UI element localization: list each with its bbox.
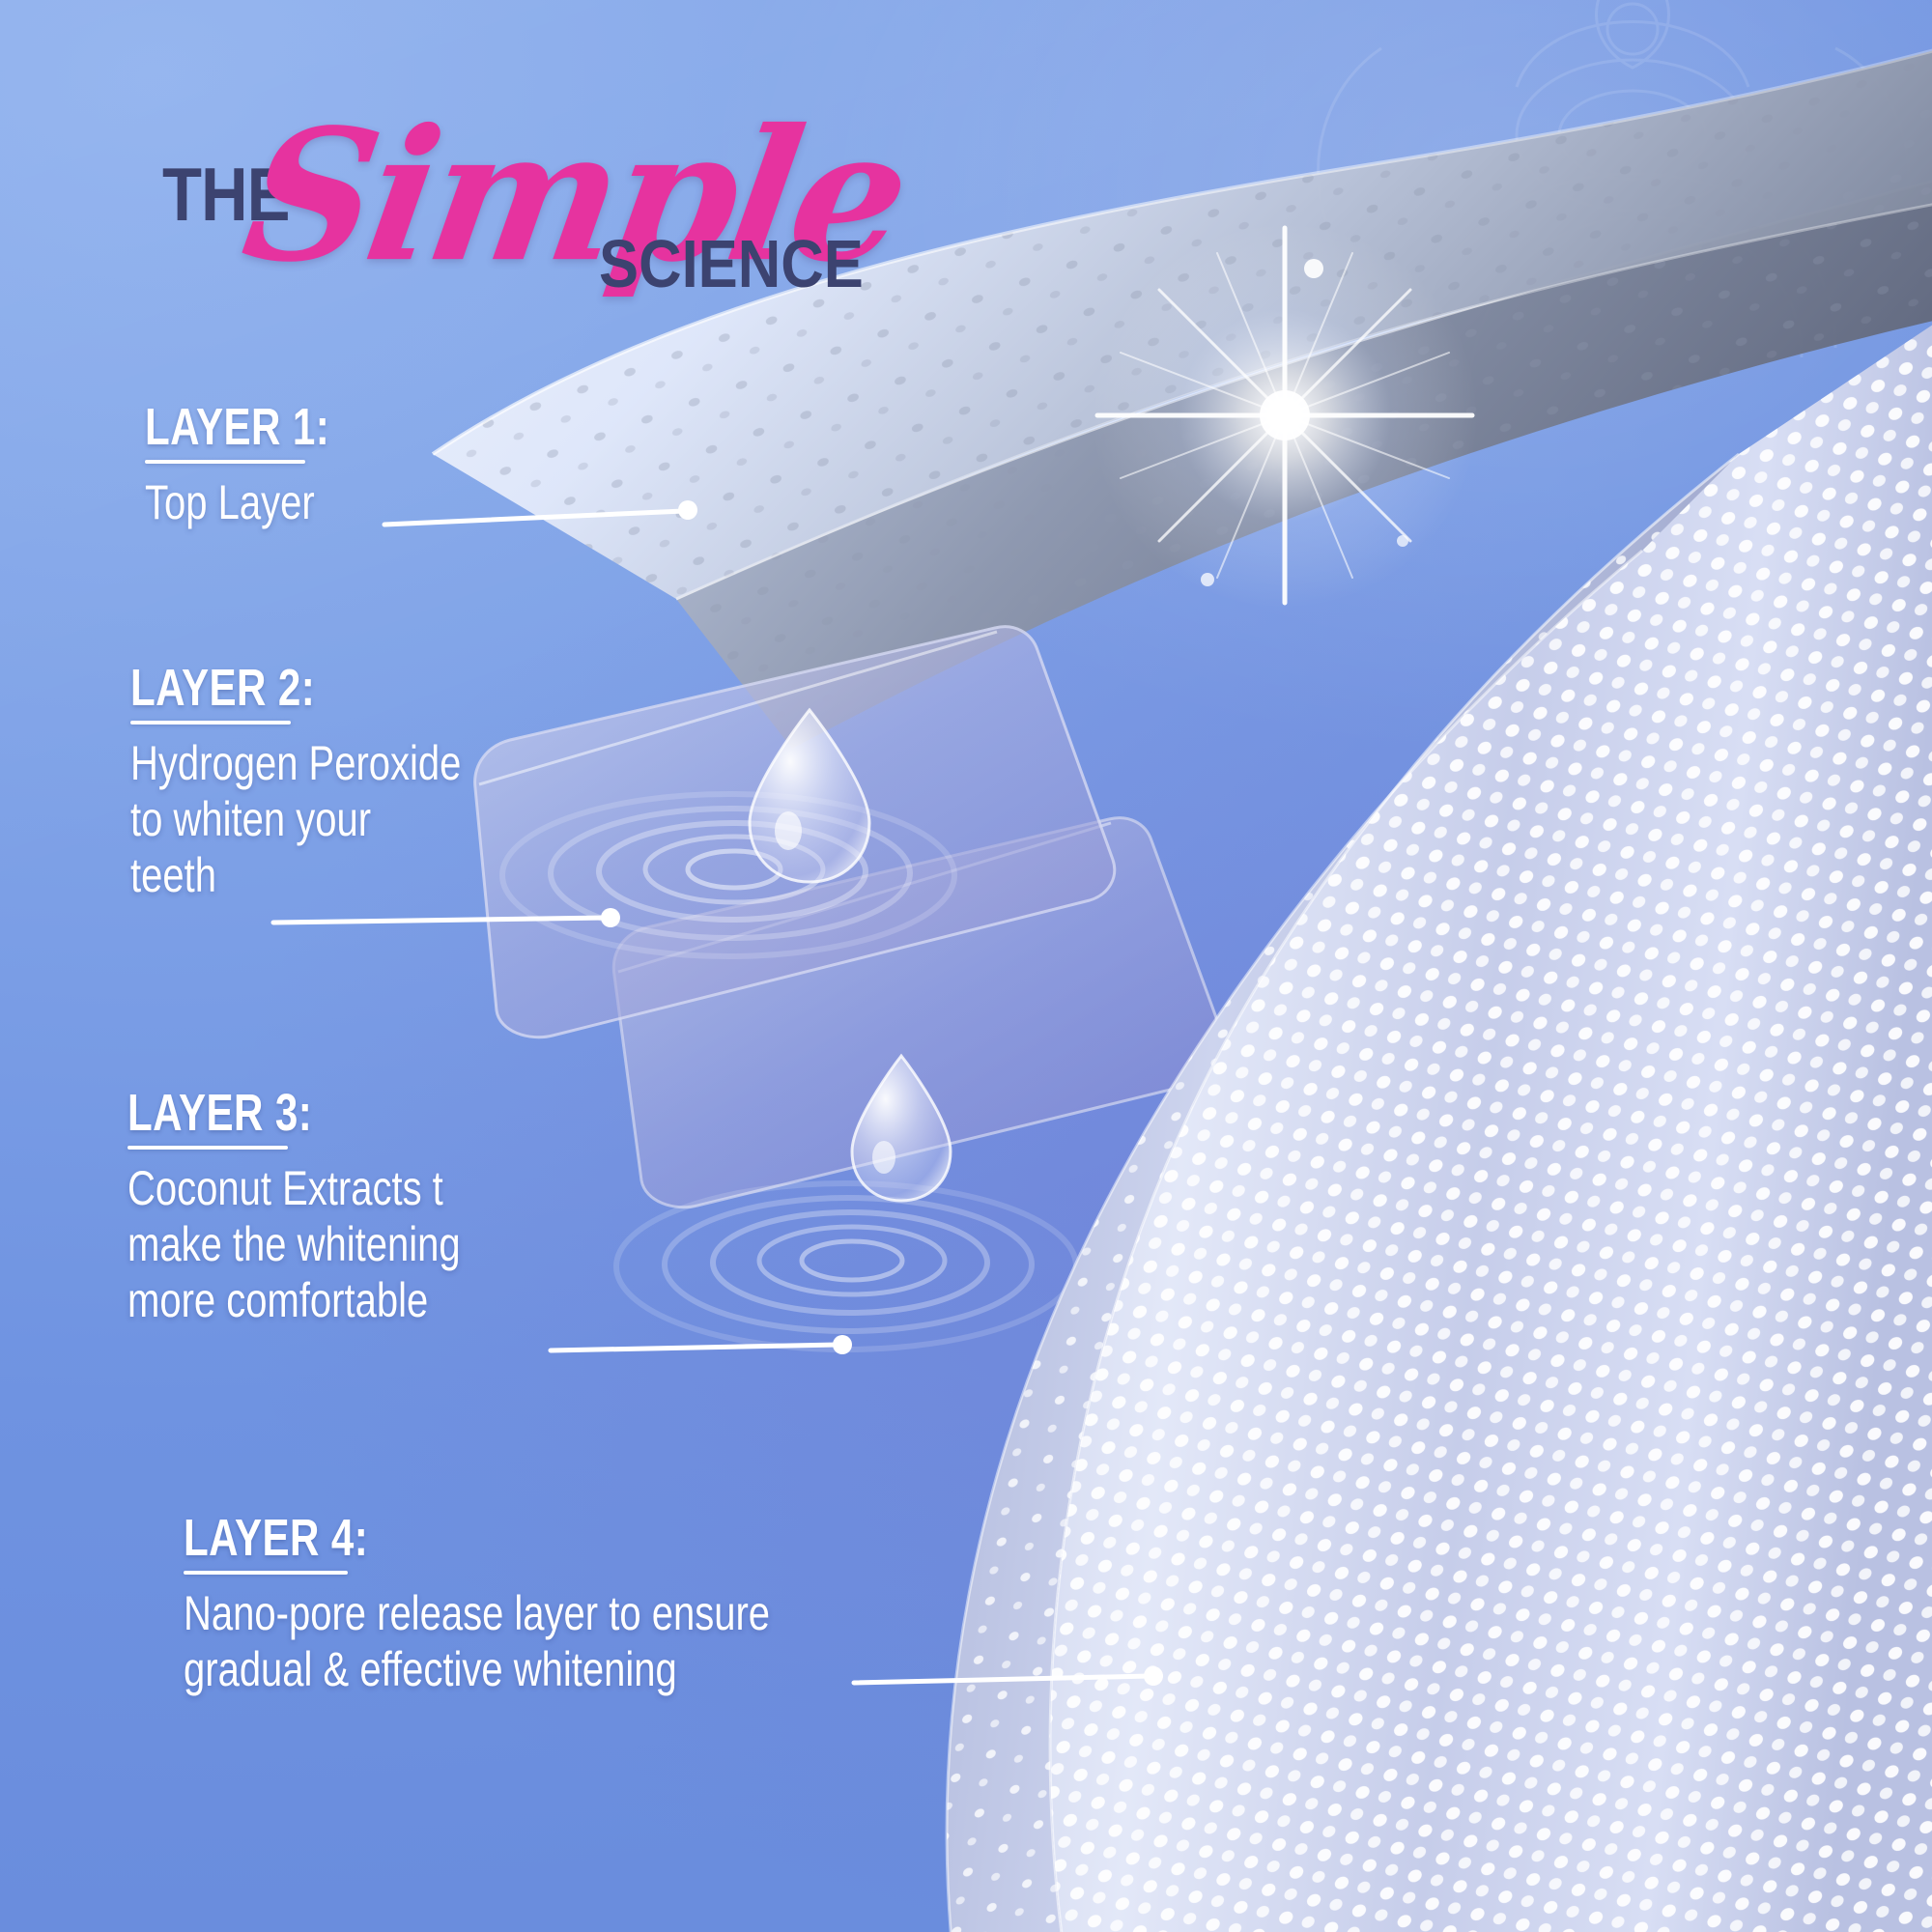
callout-layer-1: LAYER 1: Top Layer	[145, 401, 382, 530]
callout-body-2: Hydrogen Peroxideto whiten yourteeth	[130, 735, 461, 903]
callout-title-3: LAYER 3:	[128, 1087, 312, 1139]
callout-title-1: LAYER 1:	[145, 401, 329, 453]
infographic-canvas: THE Simple SCIENCE LAYER 1: Top Layer LA…	[0, 0, 1932, 1932]
callout-rule-2	[130, 721, 291, 724]
callout-title-2: LAYER 2:	[130, 662, 315, 714]
callout-body-1: Top Layer	[145, 474, 334, 530]
callout-title-4: LAYER 4:	[184, 1512, 368, 1564]
callout-body-4: Nano-pore release layer to ensuregradual…	[184, 1585, 770, 1697]
callout-layer-3: LAYER 3: Coconut Extracts tmake the whit…	[128, 1087, 544, 1328]
callout-layer-2: LAYER 2: Hydrogen Peroxideto whiten your…	[130, 662, 544, 903]
callout-rule-1	[145, 460, 305, 464]
sparkle-starburst	[1092, 222, 1478, 609]
callout-rule-3	[128, 1146, 288, 1150]
callout-layer-4: LAYER 4: Nano-pore release layer to ensu…	[184, 1512, 917, 1697]
callout-rule-4	[184, 1571, 348, 1575]
callout-column: LAYER 1: Top Layer LAYER 2: Hydrogen Per…	[0, 0, 966, 1932]
callout-body-3: Coconut Extracts tmake the whiteningmore…	[128, 1160, 461, 1328]
